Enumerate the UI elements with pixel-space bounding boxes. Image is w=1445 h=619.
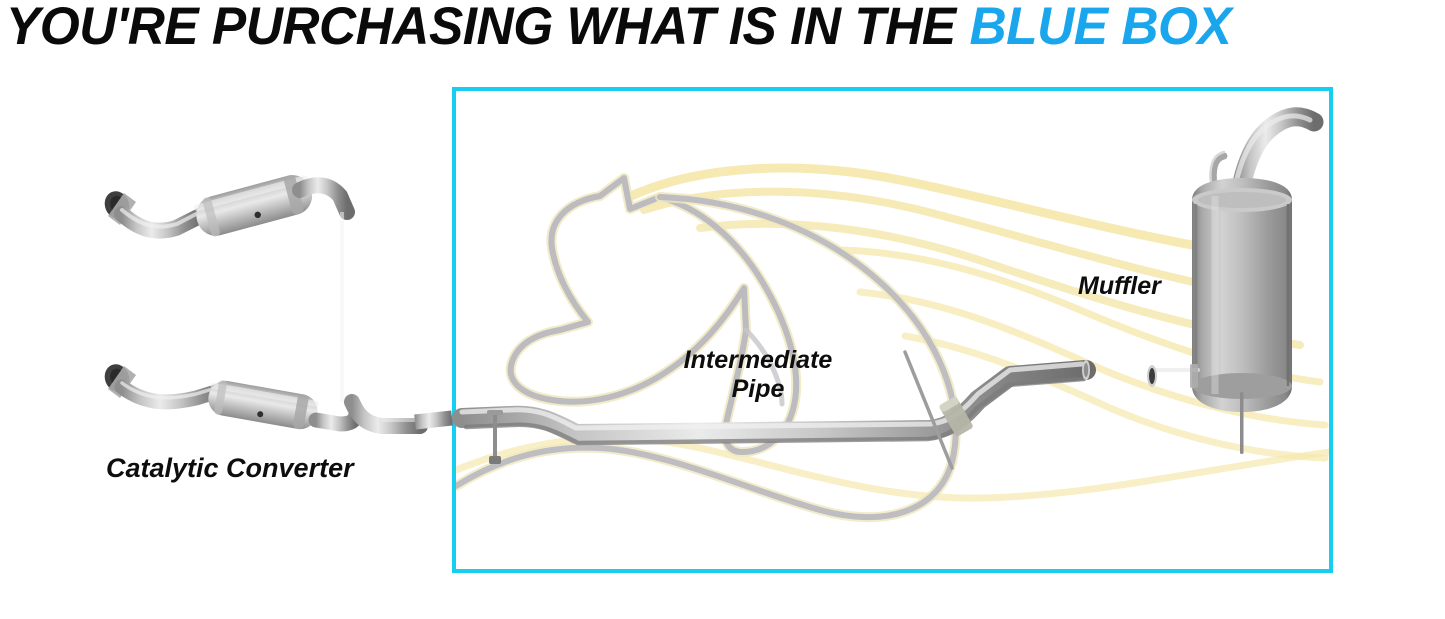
product-graphic: YOU'RE PURCHASING WHAT IS IN THE BLUE BO… <box>0 0 1445 619</box>
page-title-black-part: YOU'RE PURCHASING WHAT IS IN THE <box>6 0 970 56</box>
label-muffler: Muffler <box>1078 272 1161 301</box>
blue-box-highlight <box>452 87 1333 573</box>
page-title: YOU'RE PURCHASING WHAT IS IN THE BLUE BO… <box>6 0 1402 60</box>
catalytic-converter-assembly <box>101 171 452 432</box>
page-title-blue-part: BLUE BOX <box>970 0 1232 56</box>
label-intermediate-pipe: Intermediate Pipe <box>676 346 840 404</box>
label-catalytic-converter: Catalytic Converter <box>106 452 354 484</box>
